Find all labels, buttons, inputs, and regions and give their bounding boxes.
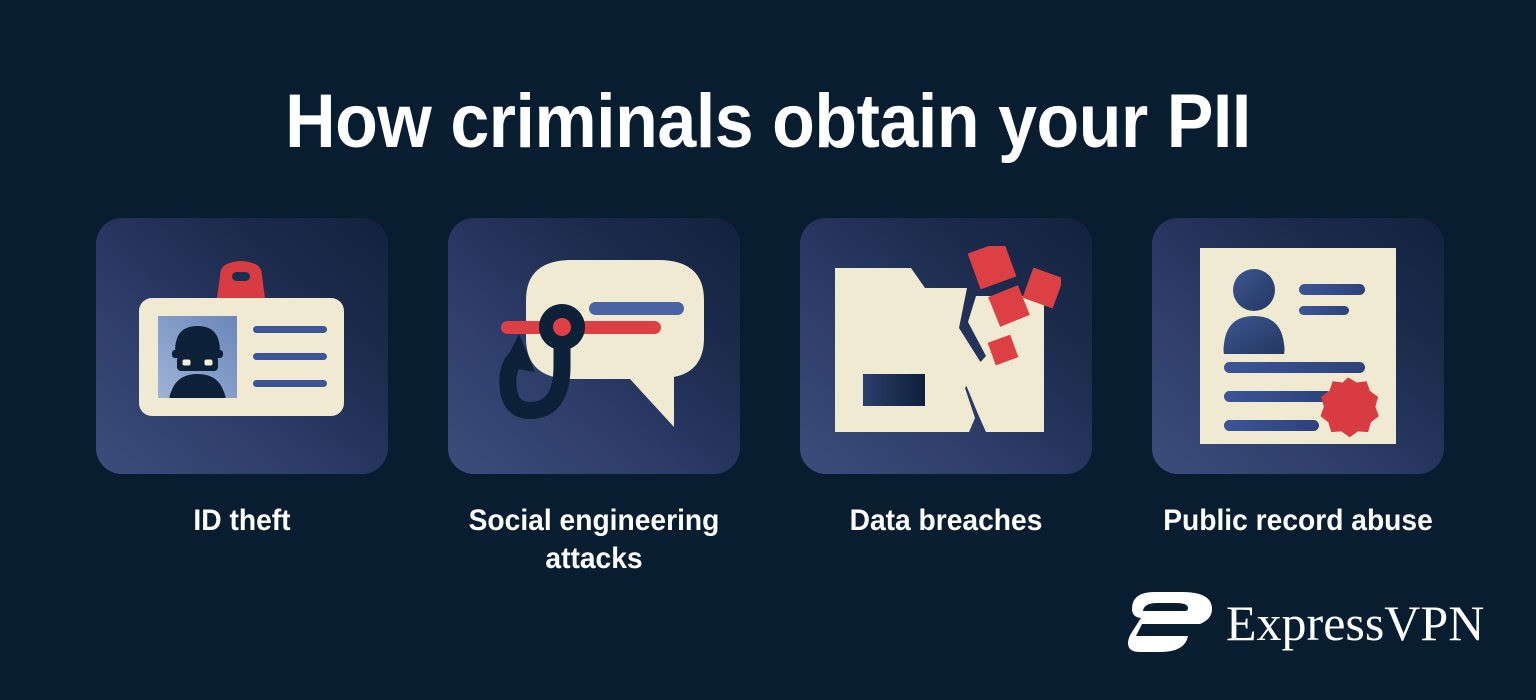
cracked-folder-icon <box>831 246 1061 446</box>
card-tile <box>96 218 388 474</box>
sealed-document-icon <box>1198 246 1398 446</box>
expressvpn-logo-mark <box>1128 592 1212 654</box>
infographic-canvas: How criminals obtain your PII <box>0 0 1536 700</box>
page-title: How criminals obtain your PII <box>61 84 1474 160</box>
card-tile <box>800 218 1092 474</box>
card-label: Data breaches <box>805 502 1087 540</box>
cards-row: ID theft Soc <box>96 218 1446 578</box>
card-id-theft[interactable]: ID theft <box>96 218 388 578</box>
id-badge-thief-icon <box>127 256 357 436</box>
card-social-engineering[interactable]: Social engineering attacks <box>448 218 740 578</box>
card-tile <box>448 218 740 474</box>
card-label: ID theft <box>101 502 383 540</box>
card-label: Social engineering attacks <box>453 502 735 578</box>
brand-name: ExpressVPN <box>1226 598 1484 648</box>
expressvpn-logo[interactable]: ExpressVPN <box>1128 592 1484 654</box>
phishing-hook-chat-icon <box>479 246 709 446</box>
card-tile <box>1152 218 1444 474</box>
card-data-breaches[interactable]: Data breaches <box>800 218 1092 578</box>
card-label: Public record abuse <box>1157 502 1439 540</box>
card-public-record-abuse[interactable]: Public record abuse <box>1152 218 1444 578</box>
